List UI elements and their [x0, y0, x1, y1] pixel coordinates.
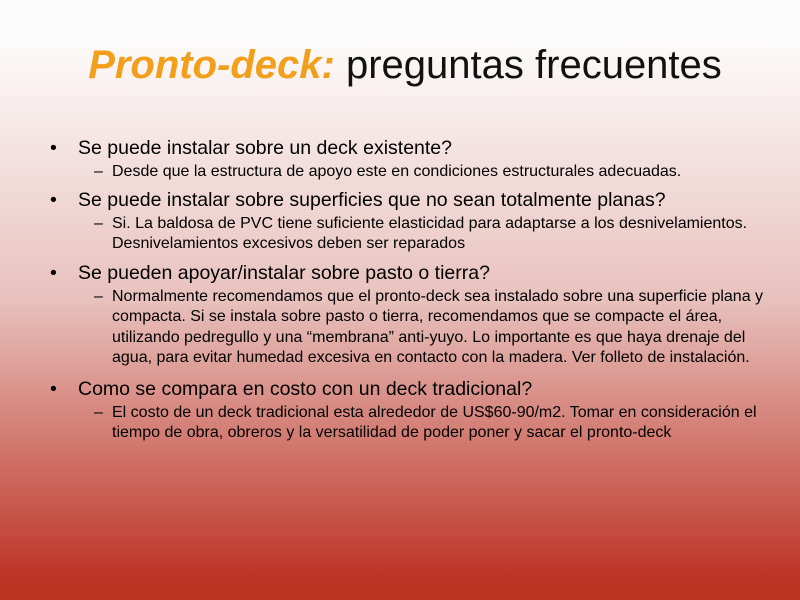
- title-brand-name: Pronto-deck: [88, 43, 321, 87]
- faq-question: • Se puede instalar sobre un deck existe…: [44, 136, 764, 161]
- faq-answer: – El costo de un deck tradicional esta a…: [44, 403, 764, 444]
- title-separator: :: [322, 43, 335, 87]
- bullet-level2-icon: –: [94, 287, 103, 308]
- faq-question-text: Se puede instalar sobre un deck existent…: [78, 137, 452, 159]
- faq-answer: – Normalmente recomendamos que el pronto…: [44, 287, 764, 369]
- faq-answer-text: El costo de un deck tradicional esta alr…: [112, 403, 764, 444]
- bullet-level1-icon: •: [50, 188, 57, 213]
- faq-content: • Se puede instalar sobre un deck existe…: [44, 136, 764, 446]
- faq-question: • Como se compara en costo con un deck t…: [44, 377, 764, 402]
- faq-question: • Se puede instalar sobre superficies qu…: [44, 188, 764, 213]
- bullet-level2-icon: –: [94, 162, 103, 183]
- page-title: Pronto-deck: preguntas frecuentes: [40, 42, 770, 88]
- faq-question-text: Se pueden apoyar/instalar sobre pasto o …: [78, 262, 490, 284]
- presentation-slide: Pronto-deck: preguntas frecuentes • Se p…: [0, 0, 800, 600]
- faq-question: • Se pueden apoyar/instalar sobre pasto …: [44, 261, 764, 286]
- faq-answer: – Si. La baldosa de PVC tiene suficiente…: [44, 214, 764, 255]
- bullet-level1-icon: •: [50, 377, 57, 402]
- bullet-level1-icon: •: [50, 136, 57, 161]
- bullet-level2-icon: –: [94, 214, 103, 235]
- faq-item: • Se puede instalar sobre un deck existe…: [44, 136, 764, 183]
- faq-answer-text: Si. La baldosa de PVC tiene suficiente e…: [112, 214, 764, 255]
- title-subject: preguntas frecuentes: [335, 43, 722, 87]
- faq-item: • Se pueden apoyar/instalar sobre pasto …: [44, 261, 764, 369]
- bullet-level2-icon: –: [94, 403, 103, 424]
- faq-item: • Como se compara en costo con un deck t…: [44, 377, 764, 444]
- faq-answer-text: Normalmente recomendamos que el pronto-d…: [112, 287, 764, 369]
- bullet-level1-icon: •: [50, 261, 57, 286]
- faq-question-text: Se puede instalar sobre superficies que …: [78, 189, 666, 211]
- faq-answer-text: Desde que la estructura de apoyo este en…: [112, 162, 764, 183]
- faq-answer: – Desde que la estructura de apoyo este …: [44, 162, 764, 183]
- faq-item: • Se puede instalar sobre superficies qu…: [44, 188, 764, 255]
- faq-question-text: Como se compara en costo con un deck tra…: [78, 378, 532, 400]
- slide-title-block: Pronto-deck: preguntas frecuentes: [40, 42, 770, 88]
